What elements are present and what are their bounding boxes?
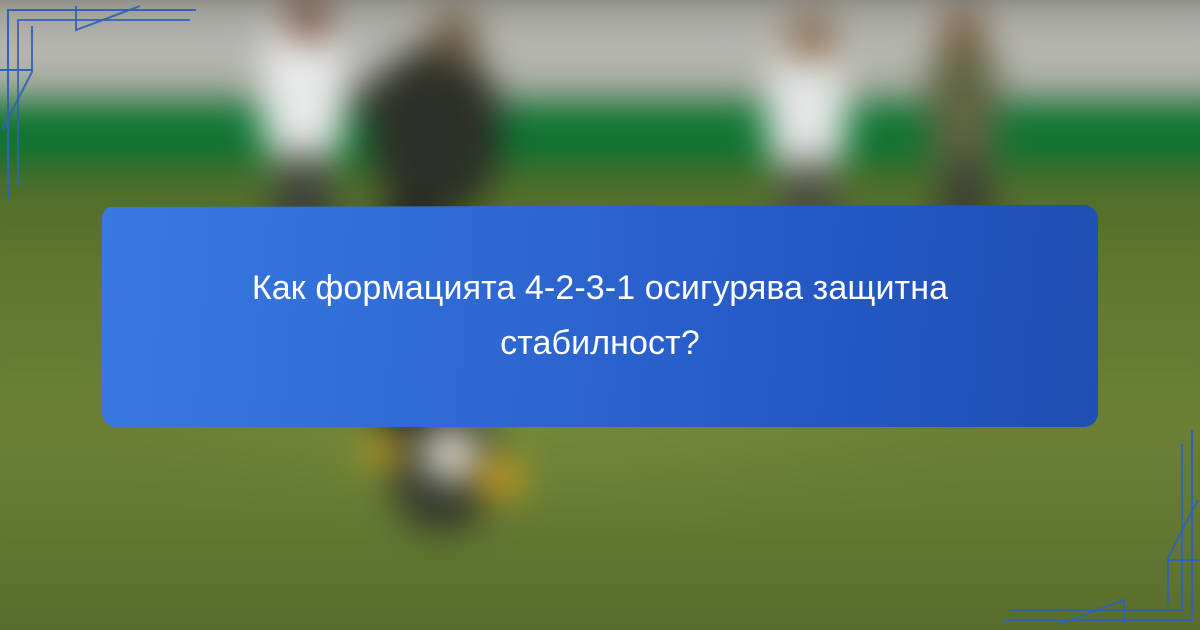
background-band-barrier <box>0 102 1200 174</box>
player-dark-kit-center-head <box>430 12 478 64</box>
title-banner: Как формацията 4-2-3-1 осигурява защитна… <box>102 205 1098 427</box>
screenshot-canvas: Как формацията 4-2-3-1 осигурява защитна… <box>0 0 1200 630</box>
soccer-ball <box>422 426 478 482</box>
player-olive-kit-head <box>942 8 984 54</box>
background-band-stands <box>0 0 1200 110</box>
player-white-kit-right-head <box>788 14 834 64</box>
player-boot-right <box>476 460 522 496</box>
player-dark-kit-center-body <box>370 46 502 214</box>
title-line-2: стабилност? <box>500 316 700 371</box>
title-line-1: Как формацията 4-2-3-1 осигурява защитна <box>252 261 948 316</box>
player-boot-left <box>364 434 404 466</box>
title-banner-text: Как формацията 4-2-3-1 осигурява защитна… <box>102 205 1098 427</box>
